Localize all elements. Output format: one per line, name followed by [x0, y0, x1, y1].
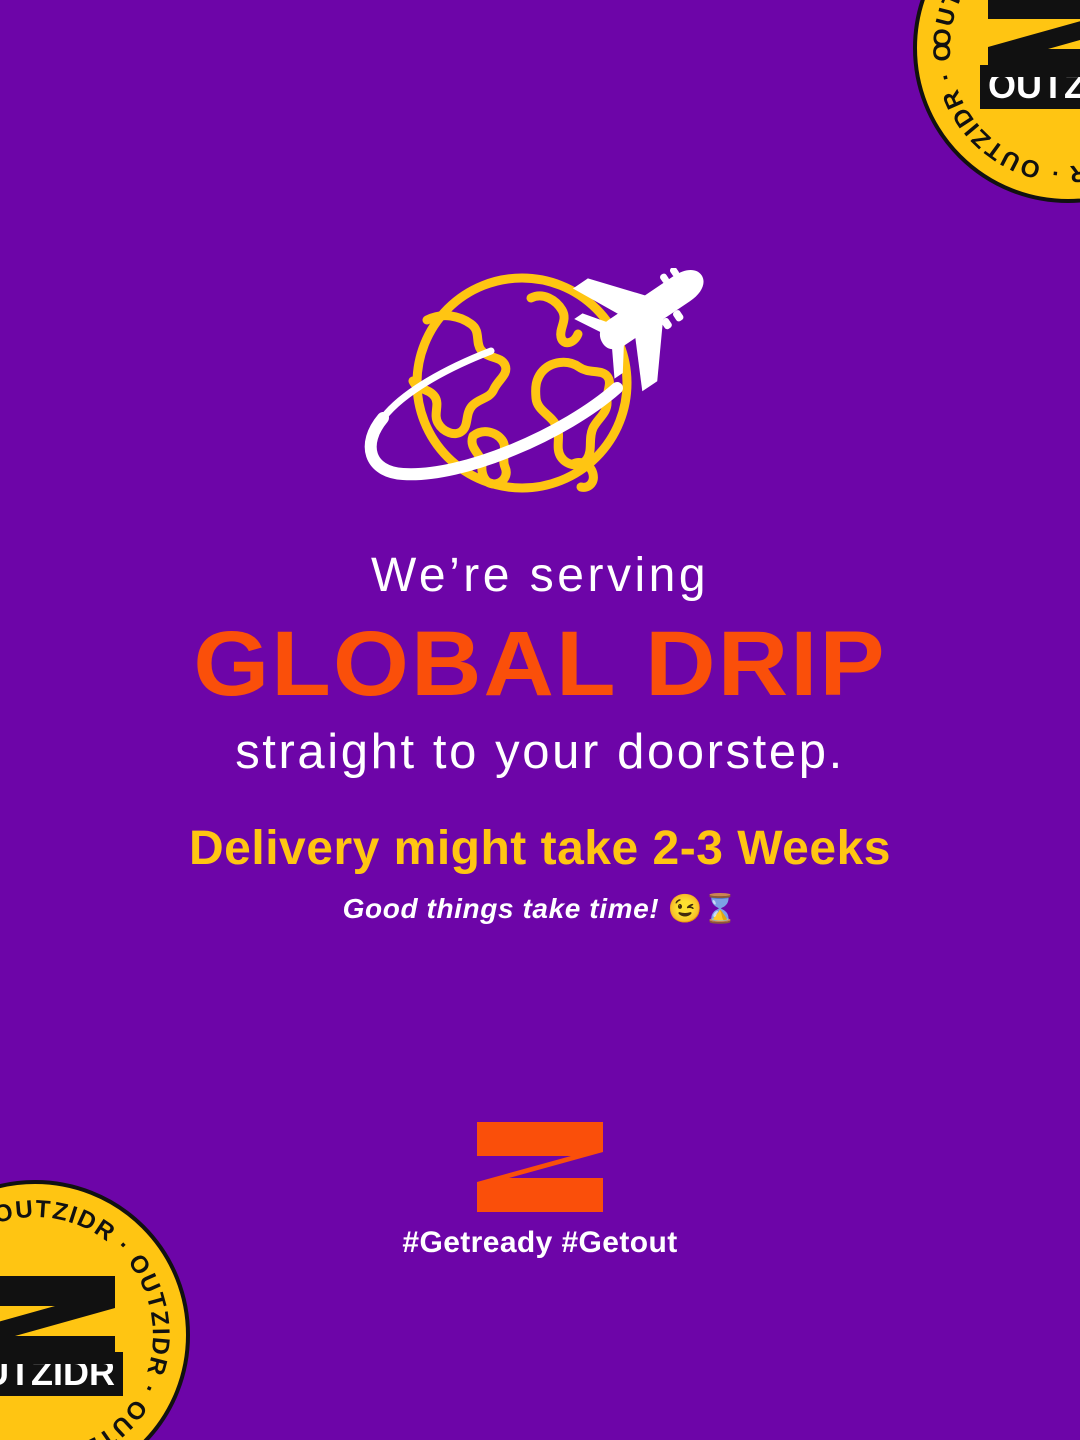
wink-hourglass-emoji: 😉⌛: [668, 893, 738, 924]
subhead-text: straight to your doorstep.: [0, 723, 1080, 782]
delivery-subnote: Good things take time! 😉⌛: [0, 892, 1080, 925]
delivery-notice-block: Delivery might take 2-3 Weeks Good thing…: [0, 820, 1080, 925]
delivery-notice-text: Delivery might take 2-3 Weeks: [0, 820, 1080, 878]
sticker-core-top-right: OUTZIDR: [979, 0, 1080, 109]
z-logo-icon: [984, 0, 1080, 79]
z-logo-icon: [0, 1274, 119, 1366]
delivery-subnote-text: Good things take time!: [343, 893, 660, 924]
eyebrow-text: We’re serving: [0, 548, 1080, 604]
hashtags-text: #Getready #Getout: [402, 1226, 677, 1260]
poster-canvas: OUTZIDR · OUTZIDR · OUTZIDR · OUTZIDR · …: [0, 0, 1080, 1440]
brand-z-logo-icon: [477, 1122, 603, 1212]
globe-with-airplane-icon: [355, 268, 725, 518]
sticker-badge-bottom-left: OUTZIDR · OUTZIDR · OUTZIDR · OUTZIDR · …: [0, 1180, 190, 1440]
sticker-badge-top-right: OUTZIDR · OUTZIDR · OUTZIDR · OUTZIDR · …: [913, 0, 1080, 203]
sticker-core-bottom-left: OUTZIDR: [0, 1274, 124, 1396]
headline-text: GLOBAL DRIP: [0, 614, 1080, 715]
headline-copy-block: We’re serving GLOBAL DRIP straight to yo…: [0, 548, 1080, 782]
